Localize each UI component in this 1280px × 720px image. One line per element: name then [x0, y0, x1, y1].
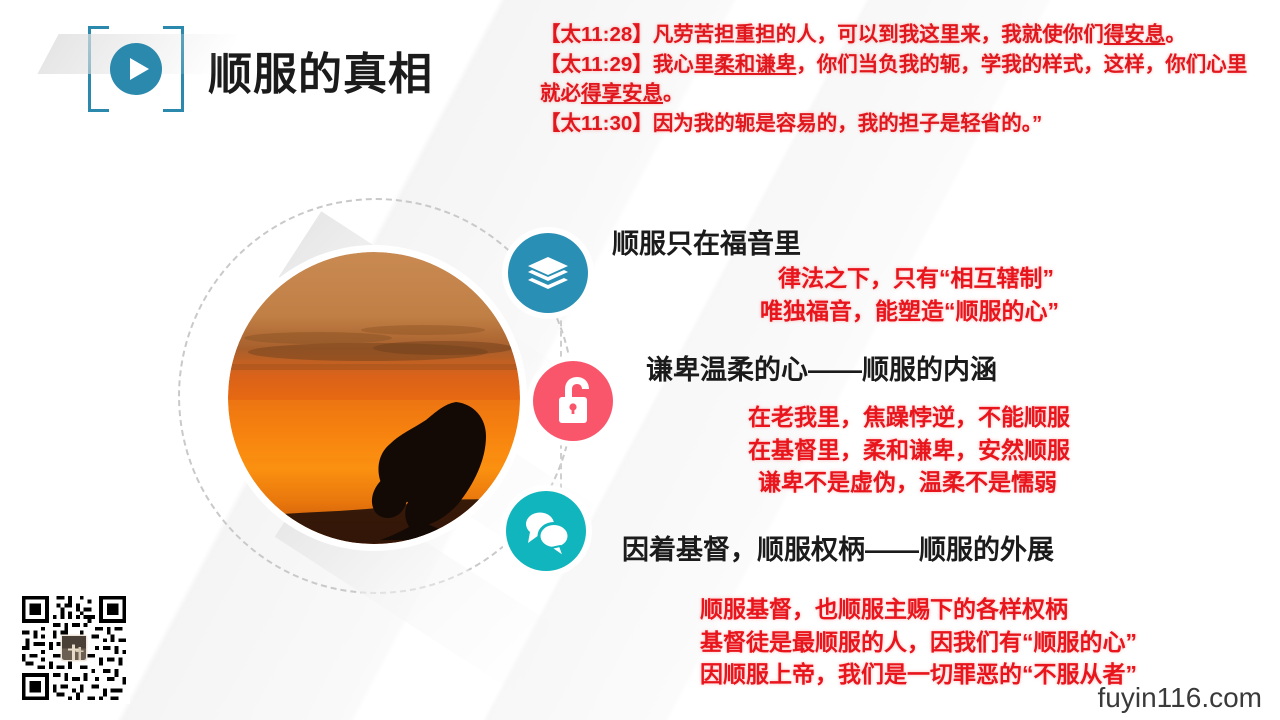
section-icon-3[interactable]: [506, 491, 586, 571]
section-heading-1: 顺服只在福音里: [612, 222, 801, 261]
section-2-line-2: 在基督里，柔和谦卑，安然顺服: [748, 435, 1070, 466]
section-lines-2: 在老我里，焦躁悖逆，不能顺服 在基督里，柔和谦卑，安然顺服 谦卑不是虚伪，温柔不…: [748, 402, 1070, 500]
section-lines-3: 顺服基督，也顺服主赐下的各样权柄 基督徒是最顺服的人，因我们有“顺服的心” 因顺…: [700, 594, 1137, 692]
page-title: 顺服的真相: [208, 38, 433, 102]
verse-ref-1: 【太11:28】: [540, 23, 653, 46]
speech-bubbles-icon: [506, 491, 586, 571]
section-3-line-3: 因顺服上帝，我们是一切罪恶的“不服从者”: [700, 659, 1137, 690]
watermark: fuyin116.com: [1098, 682, 1262, 714]
section-heading-3: 因着基督，顺服权柄——顺服的外展: [622, 528, 1054, 567]
praying-silhouette-photo: [228, 252, 520, 544]
verse-ref-2: 【太11:29】: [540, 53, 653, 76]
verse-underline-1: 得安息: [1104, 23, 1166, 46]
section-heading-2: 谦卑温柔的心——顺服的内涵: [646, 348, 997, 387]
section-2-line-3: 谦卑不是虚伪，温柔不是懦弱: [748, 467, 1070, 498]
scripture-verse-2: 【太11:29】我心里柔和谦卑，你们当负我的轭，学我的样式，这样，你们心里就必得…: [540, 50, 1260, 108]
verse-underline-2a: 柔和谦卑: [714, 53, 796, 76]
section-3-line-1: 顺服基督，也顺服主赐下的各样权柄: [700, 594, 1137, 625]
verse-ref-3: 【太11:30】: [540, 112, 653, 135]
verse-text-1a: 凡劳苦担重担的人，可以到我这里来，我就使你们: [653, 23, 1104, 46]
verse-text-1b: 。: [1165, 23, 1186, 46]
unlock-icon: [533, 361, 613, 441]
scripture-verse-1: 【太11:28】凡劳苦担重担的人，可以到我这里来，我就使你们得安息。: [540, 20, 1260, 49]
section-icon-1[interactable]: [508, 233, 588, 313]
layers-icon: [508, 233, 588, 313]
scripture-verse-3: 【太11:30】因为我的轭是容易的，我的担子是轻省的。”: [540, 109, 1260, 138]
cross-photo: [60, 634, 87, 661]
verse-text-2a: 我心里: [653, 53, 715, 76]
section-1-line-1: 律法之下，只有“相互辖制”: [760, 263, 1059, 294]
verse-text-2c: 。: [663, 82, 684, 105]
scripture-block: 【太11:28】凡劳苦担重担的人，可以到我这里来，我就使你们得安息。 【太11:…: [540, 20, 1260, 139]
slide-canvas: 顺服的真相 【太11:28】凡劳苦担重担的人，可以到我这里来，我就使你们得安息。…: [0, 0, 1280, 720]
play-button-icon: [110, 43, 162, 95]
section-icon-2[interactable]: [533, 361, 613, 441]
section-lines-1: 律法之下，只有“相互辖制” 唯独福音，能塑造“顺服的心”: [760, 263, 1059, 328]
verse-text-3: 因为我的轭是容易的，我的担子是轻省的。”: [653, 112, 1043, 135]
qr-code-icon[interactable]: [18, 592, 130, 704]
verse-underline-2b: 得享安息: [581, 82, 663, 105]
section-3-line-2: 基督徒是最顺服的人，因我们有“顺服的心”: [700, 627, 1137, 658]
section-1-line-2: 唯独福音，能塑造“顺服的心”: [760, 296, 1059, 327]
section-2-line-1: 在老我里，焦躁悖逆，不能顺服: [748, 402, 1070, 433]
